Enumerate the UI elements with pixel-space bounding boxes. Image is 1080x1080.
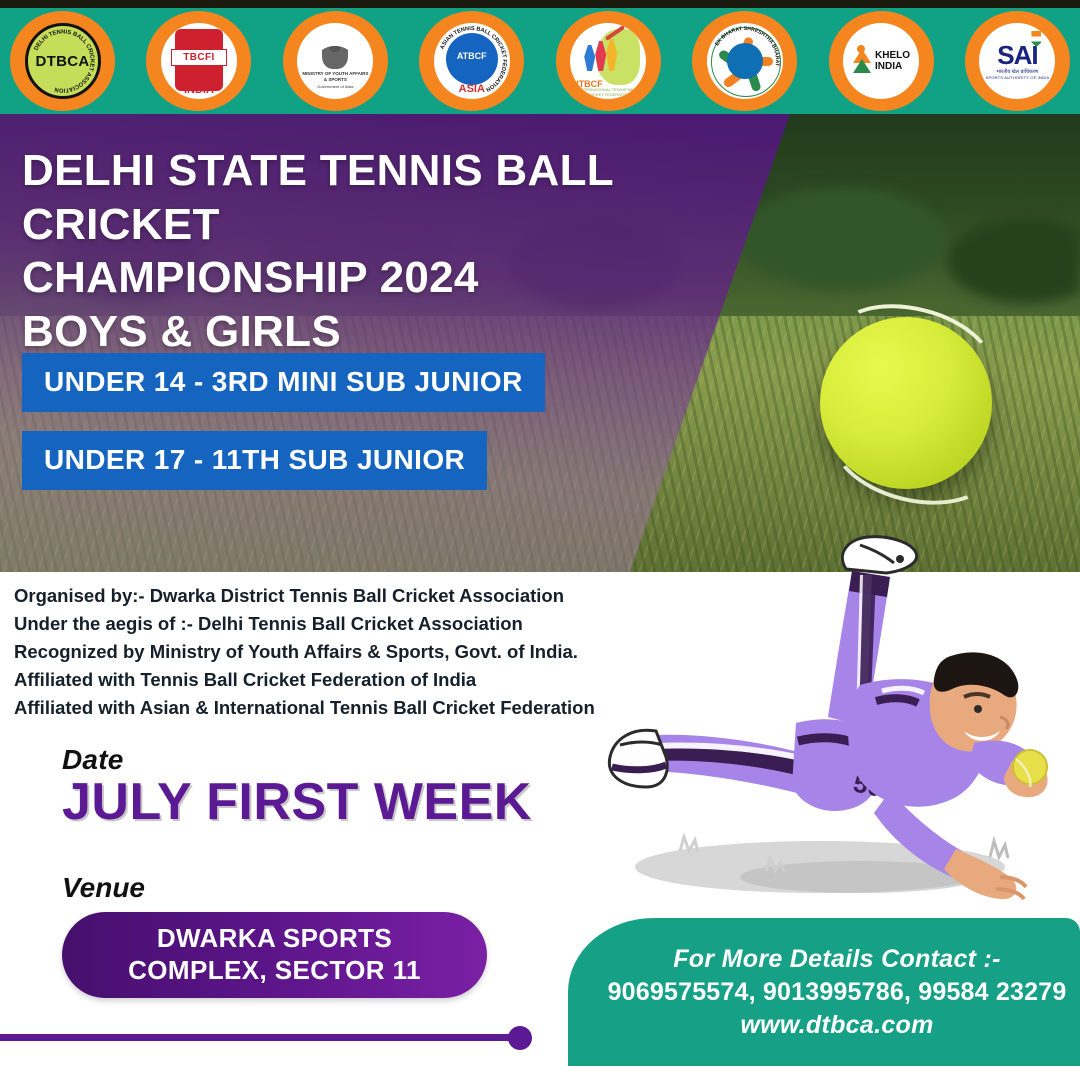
dtbca-logo: DELHI TENNIS BALL CRICKET ASSOCIATION DT… — [10, 11, 115, 111]
hero-banner: DELHI STATE TENNIS BALL CRICKET CHAMPION… — [0, 114, 1080, 572]
ministry-youth-affairs-sports-logo: MINISTRY OF YOUTH AFFAIRS & SPORTS Gover… — [283, 11, 388, 111]
atbcf-asia-logo: ASIAN TENNIS BALL CRICKET FEDERATION ATB… — [419, 11, 524, 111]
runner-icon — [857, 45, 865, 53]
ministry-logo-line1: MINISTRY OF YOUTH AFFAIRS & SPORTS — [297, 71, 373, 82]
svg-text:DELHI TENNIS BALL CRICKET ASSO: DELHI TENNIS BALL CRICKET ASSOCIATION — [33, 29, 94, 92]
atbcf-logo-label: ATBCF — [434, 51, 510, 61]
venue-pill: DWARKA SPORTS COMPLEX, SECTOR 11 — [62, 912, 487, 998]
date-value: JULY FIRST WEEK — [62, 772, 532, 832]
contact-heading: For More Details Contact :- — [594, 945, 1080, 974]
date-block: Date JULY FIRST WEEK — [62, 744, 532, 832]
contact-phones[interactable]: 9069575574, 9013995786, 99584 23279 — [594, 978, 1080, 1007]
itbcf-logo: ITBCF INTERNATIONAL TENNIS BALL CRICKET … — [556, 11, 661, 111]
ebsb-ring-text-icon: EK BHARAT SHRESHTHA BHARAT — [707, 23, 783, 99]
atbcf-logo-caption: ASIA — [434, 83, 510, 95]
tbcfi-logo-caption: INDIA — [161, 84, 237, 96]
svg-text:EK BHARAT SHRESHTHA BHARAT: EK BHARAT SHRESHTHA BHARAT — [714, 26, 780, 67]
decorative-rule — [0, 1034, 512, 1041]
sai-logo-label: SAI — [997, 42, 1037, 68]
decorative-rule-dot — [508, 1026, 532, 1050]
category-badge-under-17: UNDER 17 - 11TH SUB JUNIOR — [22, 431, 487, 490]
tbcfi-logo-label: TBCFI — [183, 52, 214, 63]
ministry-logo-line2: Government of India — [317, 84, 353, 89]
ek-bharat-shreshtha-bharat-logo: EK BHARAT SHRESHTHA BHARAT — [692, 11, 797, 111]
venue-line-2: COMPLEX, SECTOR 11 — [128, 955, 421, 987]
title-line-2: CHAMPIONSHIP 2024 — [22, 251, 812, 305]
tennis-ball-icon — [820, 317, 992, 489]
itbcf-logo-caption: INTERNATIONAL TENNIS BALL CRICKET FEDERA… — [570, 87, 646, 97]
title-line-1: DELHI STATE TENNIS BALL CRICKET — [22, 144, 812, 251]
ashoka-emblem-icon — [322, 39, 348, 69]
tbcfi-logo: TBCFI INDIA — [146, 11, 251, 111]
khelo-india-label-line1: KHELO — [875, 51, 910, 62]
venue-block: Venue DWARKA SPORTS COMPLEX, SECTOR 11 — [62, 872, 487, 998]
diving-cricket-fielder-illustration: 50 — [560, 505, 1060, 925]
page-title: DELHI STATE TENNIS BALL CRICKET CHAMPION… — [22, 144, 812, 359]
sai-logo-line2: SPORTS AUTHORITY OF INDIA — [986, 75, 1050, 80]
event-poster: DELHI TENNIS BALL CRICKET ASSOCIATION DT… — [0, 0, 1080, 1080]
affiliation-logo-band: DELHI TENNIS BALL CRICKET ASSOCIATION DT… — [0, 8, 1080, 114]
contact-panel: For More Details Contact :- 9069575574, … — [568, 918, 1080, 1066]
venue-kicker: Venue — [62, 872, 487, 904]
sai-logo: SAI भारतीय खेल प्राधिकरण SPORTS AUTHORIT… — [965, 11, 1070, 111]
contact-website[interactable]: www.dtbca.com — [594, 1011, 1080, 1040]
khelo-india-logo: KHELO INDIA — [829, 11, 934, 111]
venue-line-1: DWARKA SPORTS — [157, 923, 392, 955]
khelo-india-label-line2: INDIA — [875, 62, 910, 73]
dtbca-ring-text-icon: DELHI TENNIS BALL CRICKET ASSOCIATION — [28, 26, 98, 96]
title-line-3: BOYS & GIRLS — [22, 305, 812, 359]
category-badge-under-14: UNDER 14 - 3RD MINI SUB JUNIOR — [22, 353, 545, 412]
